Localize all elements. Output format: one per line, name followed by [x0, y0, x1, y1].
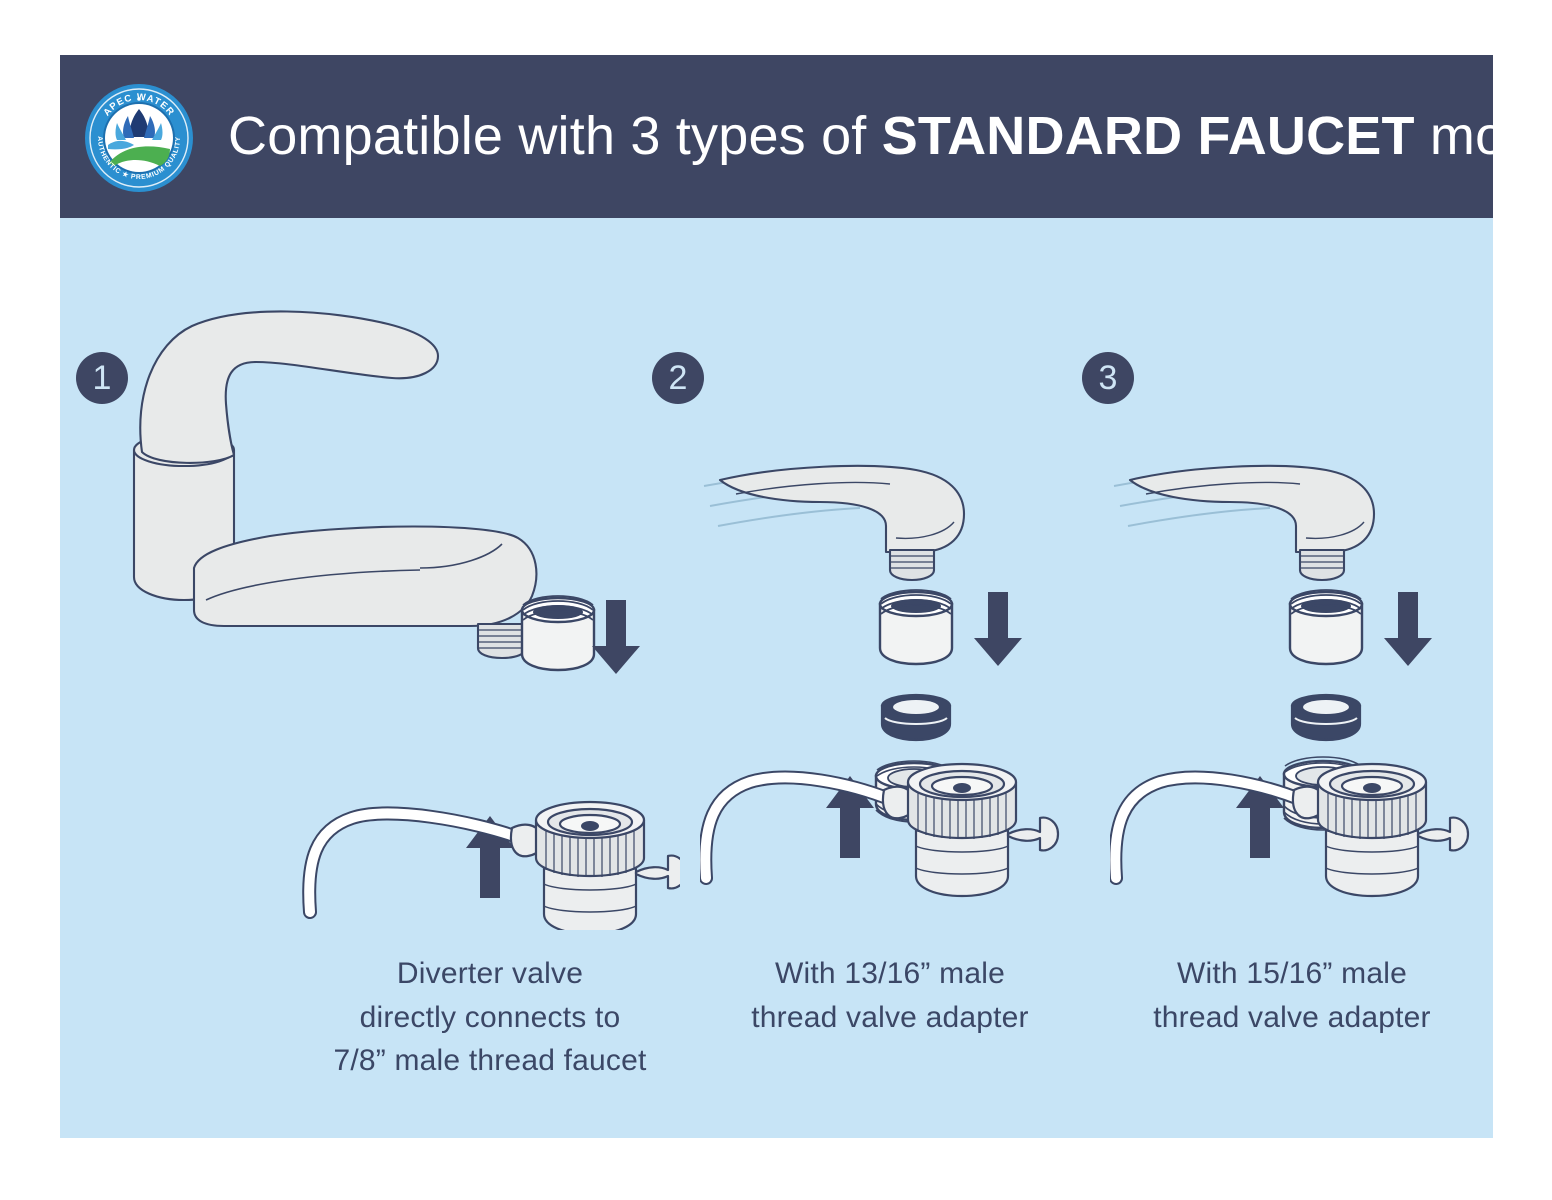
step-1-illustration	[120, 300, 680, 930]
diverter-valve-icon	[511, 802, 680, 930]
caption-line: thread valve adapter	[1092, 996, 1492, 1040]
apec-water-logo: APEC WATER AUTHENTIC ★ PREMIUM QUALITY	[84, 83, 194, 193]
caption-line: With 13/16” male	[690, 952, 1090, 996]
title-strong: STANDARD FAUCET	[882, 106, 1415, 166]
down-arrow-icon	[974, 592, 1022, 666]
header-bar: APEC WATER AUTHENTIC ★ PREMIUM QUALITY C…	[60, 55, 1493, 218]
title-prefix: Compatible with 3 types of	[228, 106, 882, 166]
down-arrow-icon	[1384, 592, 1432, 666]
caption-line: Diverter valve	[250, 952, 730, 996]
step-3-illustration	[1110, 440, 1480, 930]
title-suffix: mounts	[1415, 106, 1552, 166]
caption-line: thread valve adapter	[690, 996, 1090, 1040]
rubber-washer-ring-icon	[1292, 695, 1360, 740]
apec-water-seal-icon: APEC WATER AUTHENTIC ★ PREMIUM QUALITY	[84, 83, 194, 193]
step-2-caption: With 13/16” male thread valve adapter	[690, 952, 1090, 1039]
diverter-valve-icon	[883, 764, 1058, 896]
step-3-caption: With 15/16” male thread valve adapter	[1092, 952, 1492, 1039]
step-2-illustration	[700, 440, 1070, 930]
aerator-cylinder-icon	[880, 590, 952, 664]
infographic-canvas: APEC WATER AUTHENTIC ★ PREMIUM QUALITY C…	[0, 0, 1552, 1200]
caption-line: directly connects to	[250, 996, 730, 1040]
caption-line: 7/8” male thread faucet	[250, 1039, 730, 1083]
step-badge-3: 3	[1082, 352, 1134, 404]
faucet-spout-icon	[720, 466, 964, 580]
faucet-spout-icon	[1130, 466, 1374, 580]
rubber-washer-ring-icon	[882, 695, 950, 740]
faucet-illustration-icon	[134, 311, 536, 658]
page-title: Compatible with 3 types of STANDARD FAUC…	[228, 55, 1552, 218]
aerator-cylinder-icon	[522, 596, 594, 670]
step-1-caption: Diverter valve directly connects to 7/8”…	[250, 952, 730, 1083]
water-hose-icon	[705, 777, 892, 878]
caption-line: With 15/16” male	[1092, 952, 1492, 996]
down-arrow-icon	[592, 600, 640, 674]
water-hose-icon	[1115, 777, 1302, 878]
aerator-cylinder-icon	[1290, 590, 1362, 664]
